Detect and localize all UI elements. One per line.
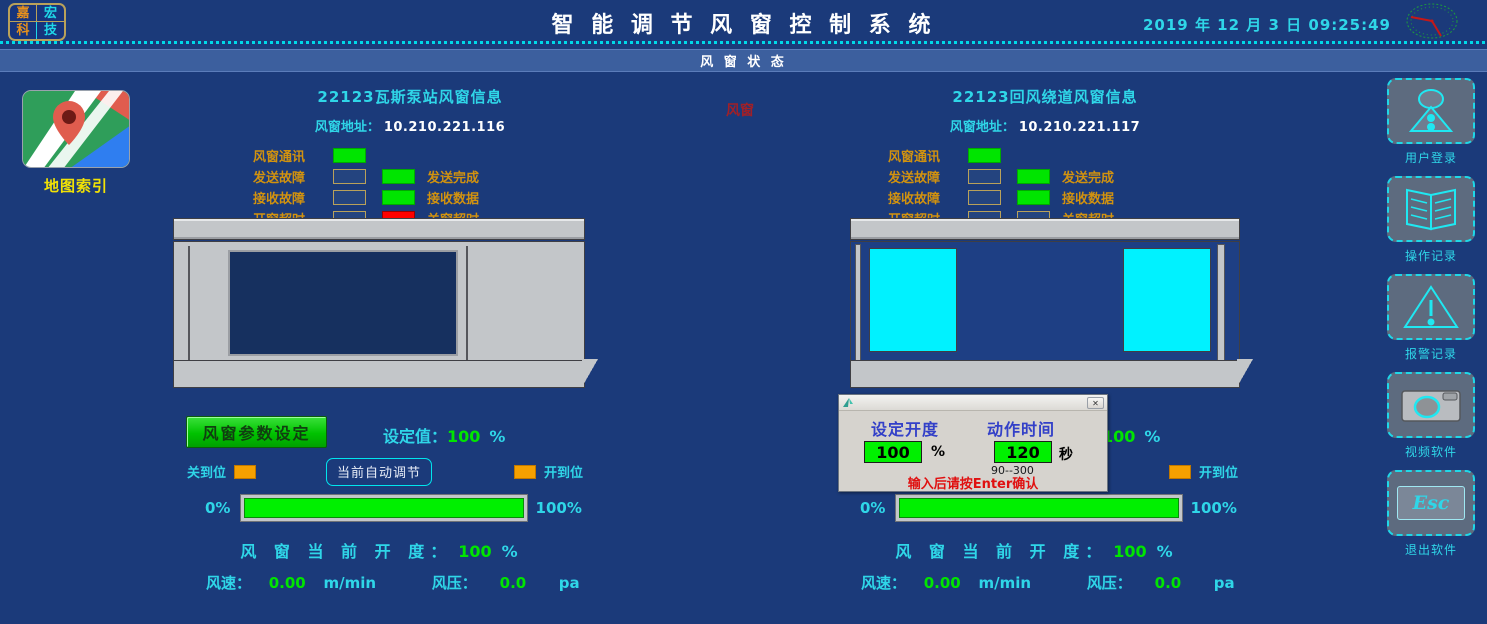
current-opening-label: 风 窗 当 前 开 度： xyxy=(895,542,1107,561)
param-settings-button-left[interactable]: 风窗参数设定 xyxy=(186,416,327,448)
panel-left: 22123瓦斯泵站风窗信息 风窗地址：10.210.221.116 风窗通讯 发… xyxy=(110,86,710,229)
lamp-recv-data xyxy=(1017,190,1050,205)
wind-pressure-value: 0.0 xyxy=(1137,574,1199,592)
damper-leaf-left xyxy=(869,248,957,352)
status-row-recv: 接收故障 接收数据 xyxy=(253,187,710,208)
opening-progress-bar-left[interactable] xyxy=(240,494,527,522)
app-triangle-icon xyxy=(842,397,854,409)
status-label-send-done: 发送完成 xyxy=(427,167,479,186)
sidebar-label-alarm-log: 报警记录 xyxy=(1375,345,1487,362)
wind-pressure-unit: pa xyxy=(549,574,589,592)
sidebar-item-operation-log[interactable]: 操作记录 xyxy=(1375,176,1487,264)
damper-lintel xyxy=(173,218,585,240)
sidebar-item-exit[interactable]: Esc 退出软件 xyxy=(1375,470,1487,558)
damper-pillar xyxy=(466,246,468,360)
wind-speed-unit: m/min xyxy=(978,574,1056,592)
current-opening-unit: % xyxy=(1157,542,1173,561)
panel-right-status-block: 风窗通讯 发送故障 发送完成 接收故障 接收数据 开窗超时 关窗超时 xyxy=(745,145,1345,229)
sidebar-label-operation-log: 操作记录 xyxy=(1375,247,1487,264)
camera-icon xyxy=(1399,383,1463,427)
status-label-comm: 风窗通讯 xyxy=(253,146,325,165)
opening-setting-label: 设定开度 xyxy=(871,416,939,440)
open-position-group: 开到位 xyxy=(1161,462,1238,481)
wind-pressure-unit: pa xyxy=(1204,574,1244,592)
wind-speed-value: 0.00 xyxy=(256,574,318,592)
current-opening-row-left: 风 窗 当 前 开 度：100% xyxy=(173,538,585,562)
current-opening-row-right: 风 窗 当 前 开 度：100% xyxy=(828,538,1240,562)
setpoint-label: 设定值： xyxy=(383,427,447,446)
setpoint-display-left: 设定值：100% xyxy=(383,423,505,447)
measurements-row-right: 风速： 0.00 m/min 风压： 0.0 pa xyxy=(828,572,1240,593)
damper-base xyxy=(850,360,1240,388)
status-label-comm: 风窗通讯 xyxy=(888,146,960,165)
damper-graphic-left xyxy=(173,218,585,388)
close-icon: ✕ xyxy=(1092,399,1099,408)
opening-bar-row-left: 0% 100% xyxy=(173,494,585,522)
measurements-row-left: 风速： 0.00 m/min 风压： 0.0 pa xyxy=(173,572,585,593)
section-title-bar: 风 窗 状 态 xyxy=(0,49,1487,72)
damper-leaf-right xyxy=(1123,248,1211,352)
panel-right: 22123回风绕道风窗信息 风窗地址：10.210.221.117 风窗通讯 发… xyxy=(745,86,1345,229)
opening-progress-bar-right[interactable] xyxy=(895,494,1182,522)
lamp-recv-data xyxy=(382,190,415,205)
section-title-text: 风 窗 状 态 xyxy=(700,51,787,70)
wind-speed-label: 风速： xyxy=(173,572,251,593)
panel-left-title: 22123瓦斯泵站风窗信息 xyxy=(110,86,710,107)
sidebar-label-user-login: 用户登录 xyxy=(1375,149,1487,166)
status-label-send-fault: 发送故障 xyxy=(253,167,325,186)
open-position-label: 开到位 xyxy=(1199,462,1238,481)
open-position-label: 开到位 xyxy=(544,462,583,481)
dialog-enter-hint: 输入后请按Enter确认 xyxy=(839,473,1107,492)
address-label: 风窗地址： xyxy=(950,120,1015,135)
current-opening-value: 100 xyxy=(458,542,491,561)
open-position-indicator xyxy=(514,465,536,479)
alarm-log-button[interactable] xyxy=(1387,274,1475,340)
damper-lintel xyxy=(850,218,1240,240)
exit-button[interactable]: Esc xyxy=(1387,470,1475,536)
top-header-bar: 嘉 宏 科 技 智 能 调 节 风 窗 控 制 系 统 2019 年 12 月 … xyxy=(0,0,1487,44)
closed-position-group: 关到位 xyxy=(187,462,264,481)
status-label-recv-data: 接收数据 xyxy=(427,188,479,207)
status-row-comm: 风窗通讯 xyxy=(888,145,1345,166)
damper-pillar-left xyxy=(855,244,861,362)
damper-pillar xyxy=(188,246,190,360)
action-time-label: 动作时间 xyxy=(987,416,1055,440)
header-underline xyxy=(0,41,1487,44)
lamp-send-done xyxy=(382,169,415,184)
action-time-input[interactable]: 120 xyxy=(994,441,1052,463)
mode-status-box-left[interactable]: 当前自动调节 xyxy=(326,458,432,486)
user-login-icon xyxy=(1403,87,1459,135)
wind-speed-label: 风速： xyxy=(828,572,906,593)
damper-pillar-right xyxy=(1217,244,1225,362)
panel-right-title: 22123回风绕道风窗信息 xyxy=(745,86,1345,107)
opening-progress-fill xyxy=(244,498,523,518)
esc-key-text: Esc xyxy=(1413,492,1450,514)
lamp-recv-fault xyxy=(333,190,366,205)
datetime-display: 2019 年 12 月 3 日 09:25:49 xyxy=(1143,14,1391,35)
bar-min-label: 0% xyxy=(173,499,230,517)
wind-pressure-value: 0.0 xyxy=(482,574,544,592)
lamp-comm xyxy=(333,148,366,163)
opening-progress-fill xyxy=(899,498,1178,518)
closed-position-indicator xyxy=(234,465,256,479)
damper-base-wedge xyxy=(582,359,598,387)
wind-speed-unit: m/min xyxy=(323,574,401,592)
setpoint-unit: % xyxy=(489,427,505,446)
wind-pressure-label: 风压： xyxy=(1062,572,1132,593)
dialog-close-button[interactable]: ✕ xyxy=(1087,397,1104,409)
lamp-comm xyxy=(968,148,1001,163)
address-value: 10.210.221.116 xyxy=(384,120,505,135)
lamp-send-fault xyxy=(968,169,1001,184)
current-opening-value: 100 xyxy=(1113,542,1146,561)
video-software-button[interactable] xyxy=(1387,372,1475,438)
open-position-group: 开到位 xyxy=(506,462,583,481)
damper-base xyxy=(173,360,585,388)
damper-base-wedge xyxy=(1237,359,1253,387)
warning-triangle-icon xyxy=(1402,283,1460,331)
dialog-titlebar[interactable]: ✕ xyxy=(839,395,1107,411)
esc-key-icon[interactable]: Esc xyxy=(1397,486,1465,520)
setpoint-unit: % xyxy=(1144,427,1160,446)
address-label: 风窗地址： xyxy=(315,120,380,135)
damper-opening xyxy=(228,250,458,356)
bar-min-label: 0% xyxy=(828,499,885,517)
sidebar-label-exit: 退出软件 xyxy=(1375,541,1487,558)
status-label-recv-fault: 接收故障 xyxy=(888,188,960,207)
damper-graphic-right xyxy=(850,218,1240,388)
panel-left-address: 风窗地址：10.210.221.116 xyxy=(110,116,710,135)
sidebar-item-video-software[interactable]: 视频软件 xyxy=(1375,372,1487,460)
lamp-send-fault xyxy=(333,169,366,184)
status-label-recv-data: 接收数据 xyxy=(1062,188,1114,207)
status-label-send-done: 发送完成 xyxy=(1062,167,1114,186)
lamp-send-done xyxy=(1017,169,1050,184)
bar-max-label: 100% xyxy=(528,499,585,517)
user-login-button[interactable] xyxy=(1387,78,1475,144)
setpoint-value: 100 xyxy=(447,427,480,446)
status-row-send: 发送故障 发送完成 xyxy=(888,166,1345,187)
panel-left-status-block: 风窗通讯 发送故障 发送完成 接收故障 接收数据 开窗超时 关窗超时 xyxy=(110,145,710,229)
open-book-icon xyxy=(1402,186,1460,232)
parameter-settings-dialog[interactable]: ✕ 设定开度 动作时间 100 % 120 秒 90--300 输入后请按Ent… xyxy=(838,394,1108,492)
damper-body xyxy=(173,241,585,363)
status-row-send: 发送故障 发送完成 xyxy=(253,166,710,187)
sidebar-item-user-login[interactable]: 用户登录 xyxy=(1375,78,1487,166)
closed-position-label: 关到位 xyxy=(187,462,226,481)
sidebar-item-alarm-log[interactable]: 报警记录 xyxy=(1375,274,1487,362)
damper-body xyxy=(850,241,1240,363)
status-row-recv: 接收故障 接收数据 xyxy=(888,187,1345,208)
address-value: 10.210.221.117 xyxy=(1019,120,1140,135)
bar-max-label: 100% xyxy=(1183,499,1240,517)
open-position-indicator xyxy=(1169,465,1191,479)
opening-input[interactable]: 100 xyxy=(864,441,922,463)
current-opening-unit: % xyxy=(502,542,518,561)
lamp-recv-fault xyxy=(968,190,1001,205)
position-indicator-row-left: 关到位 当前自动调节 开到位 xyxy=(173,462,585,480)
dialog-body: 设定开度 动作时间 100 % 120 秒 90--300 输入后请按Enter… xyxy=(839,411,1107,492)
wind-pressure-label: 风压： xyxy=(407,572,477,593)
status-label-recv-fault: 接收故障 xyxy=(253,188,325,207)
operation-log-button[interactable] xyxy=(1387,176,1475,242)
opening-bar-row-right: 0% 100% xyxy=(828,494,1240,522)
status-label-send-fault: 发送故障 xyxy=(888,167,960,186)
panel-right-address: 风窗地址：10.210.221.117 xyxy=(745,116,1345,135)
wind-speed-value: 0.00 xyxy=(911,574,973,592)
right-sidebar: 用户登录 操作记录 报警记录 xyxy=(1375,78,1487,568)
action-time-unit: 秒 xyxy=(1059,444,1073,464)
current-opening-label: 风 窗 当 前 开 度： xyxy=(240,542,452,561)
status-row-comm: 风窗通讯 xyxy=(253,145,710,166)
opening-unit: % xyxy=(931,444,945,460)
sidebar-label-video-software: 视频软件 xyxy=(1375,443,1487,460)
analog-clock-icon xyxy=(1401,1,1463,41)
